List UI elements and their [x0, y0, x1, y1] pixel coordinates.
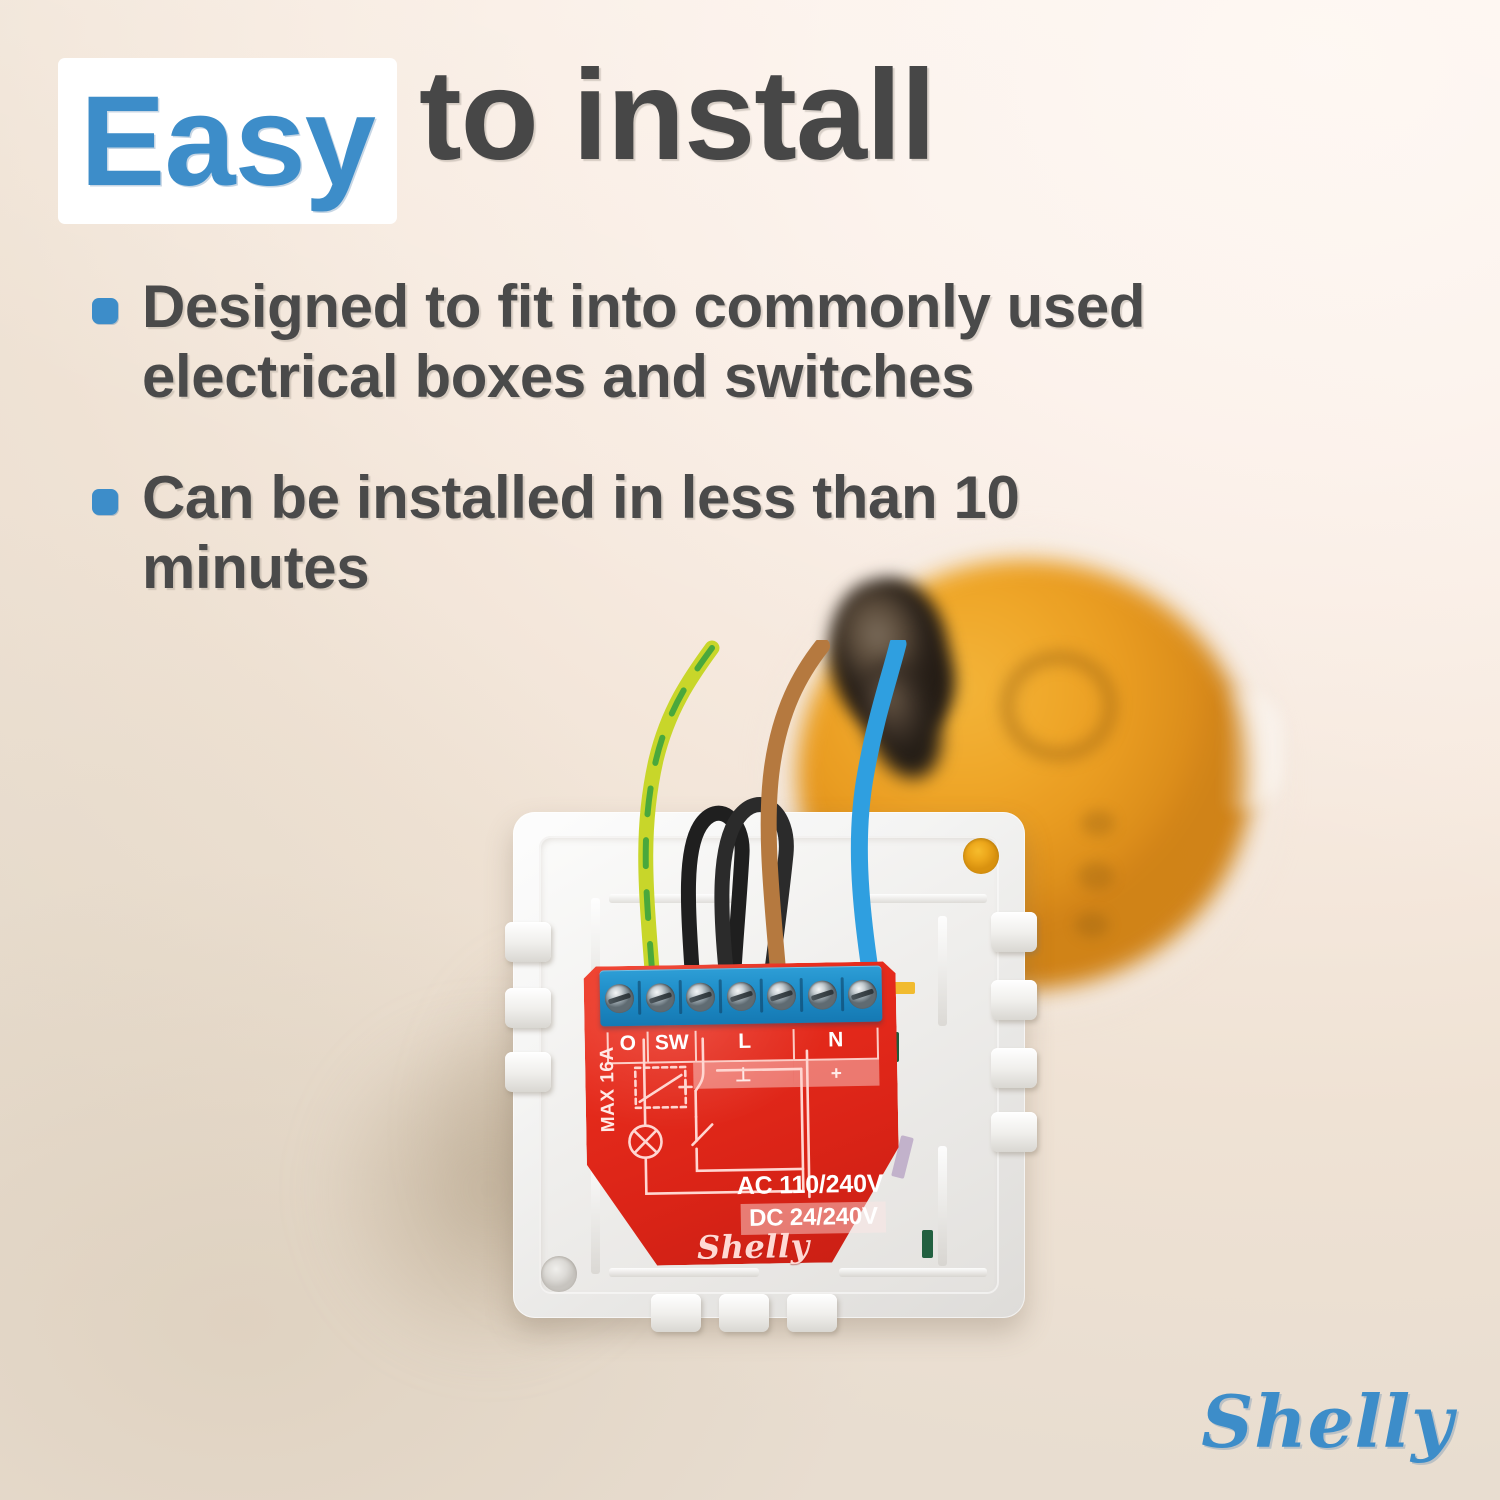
terminal-screw — [767, 981, 797, 1011]
terminal-screw — [645, 983, 675, 1013]
terminal-screw — [848, 979, 878, 1009]
frame-claw — [991, 1112, 1037, 1152]
terminal-divider — [678, 980, 682, 1014]
frame-claw — [505, 1052, 551, 1092]
list-item: Can be installed in less than 10 minutes — [92, 463, 1432, 602]
bullet-list: Designed to fit into commonly used elect… — [92, 272, 1432, 654]
module-brand-logo: Shelly — [697, 1227, 810, 1267]
rating-ac-label: AC 110/240V — [736, 1170, 883, 1202]
frame-rib — [839, 1268, 987, 1277]
headline-highlight-word: Easy — [80, 70, 375, 213]
frame-claw — [787, 1294, 837, 1332]
frame-claw — [651, 1294, 701, 1332]
bullet-text: Designed to fit into commonly used elect… — [142, 272, 1412, 411]
bullet-text: Can be installed in less than 10 minutes — [142, 463, 1202, 602]
terminal-divider — [759, 979, 763, 1013]
wall-box-dot — [1078, 862, 1114, 890]
terminal-screw — [726, 981, 756, 1011]
frame-claw — [991, 980, 1037, 1020]
terminal-screw — [605, 983, 635, 1013]
wall-box-dot — [1075, 912, 1109, 938]
shelly-relay-module: O SW L N ⊥ + MAX 16A — [583, 961, 900, 1266]
headline: Easy to install — [58, 58, 935, 224]
frame-rib — [938, 1146, 947, 1266]
wall-box-cutout — [1222, 690, 1282, 810]
list-item: Designed to fit into commonly used elect… — [92, 272, 1432, 411]
frame-claw — [719, 1294, 769, 1332]
frame-claw — [505, 988, 551, 1028]
terminal-divider — [800, 978, 804, 1012]
terminal-divider — [638, 981, 642, 1015]
shelly-brand-logo: Shelly — [1201, 1379, 1454, 1464]
bullet-marker-icon — [92, 298, 118, 324]
bullet-marker-icon — [92, 489, 118, 515]
frame-claw — [991, 912, 1037, 952]
frame-rib — [609, 1268, 759, 1277]
wire-neutral — [859, 644, 898, 970]
frame-claw — [991, 1048, 1037, 1088]
wire-live — [769, 646, 822, 970]
headline-rest: to install — [419, 42, 935, 189]
frame-claw — [505, 922, 551, 962]
terminal-screw — [807, 980, 837, 1010]
headline-highlight-box: Easy — [58, 58, 397, 224]
terminal-screw — [686, 982, 716, 1012]
wire-bundle — [560, 640, 980, 980]
wall-box-dot — [1081, 810, 1115, 836]
scene-background: Easy to install Designed to fit into com… — [0, 0, 1500, 1500]
terminal-divider — [719, 979, 723, 1013]
terminal-divider — [840, 977, 844, 1011]
wall-box-inner-ring — [1000, 650, 1118, 762]
frame-marking — [922, 1230, 933, 1258]
frame-screw-hole-bottom-left — [541, 1256, 577, 1292]
